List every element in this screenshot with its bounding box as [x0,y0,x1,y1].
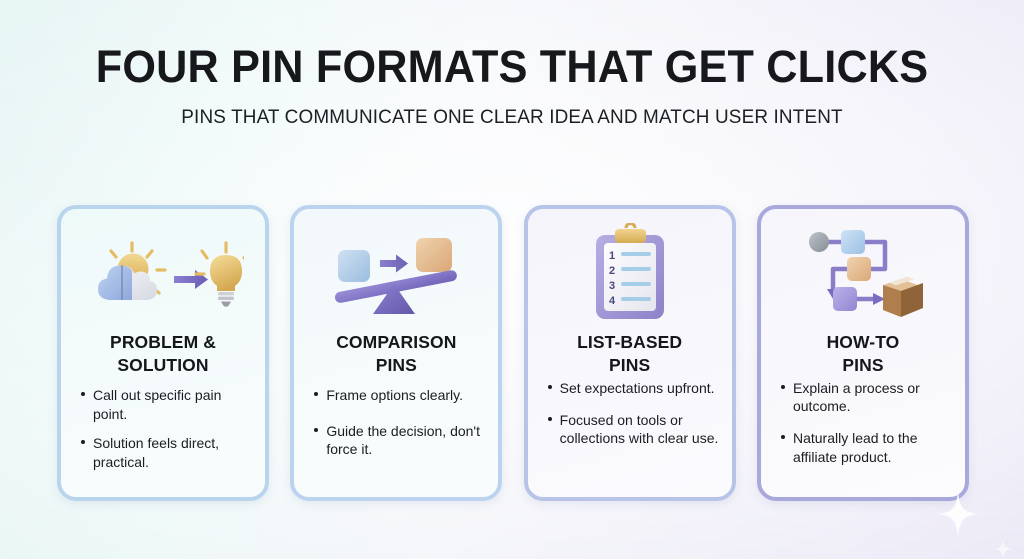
card-how-to-pins[interactable]: HOW-TO PINS Explain a process or outcome… [757,205,969,501]
card-title-line-1: COMPARISON [336,332,456,352]
clipboard-number: 4 [609,295,616,307]
list-item: Explain a process or outcome. [779,379,953,416]
list-item: Naturally lead to the affiliate product. [779,429,953,466]
page-title: FOUR PIN FORMATS THAT GET CLICKS [20,44,1003,90]
card-title: HOW-TO PINS [827,331,900,377]
flowchart-package-icon [769,219,957,331]
card-title-line-1: LIST-BASED [577,332,682,352]
list-item: Frame options clearly. [312,386,486,404]
balance-scale-blocks-icon [302,219,490,331]
card-bullet-list: Set expectations upfront. Focused on too… [536,379,724,459]
four-point-star-sparkle-icon [938,491,978,537]
clipboard-number: 2 [609,265,615,277]
list-item: Set expectations upfront. [546,379,720,397]
card-title: PROBLEM & SOLUTION [110,331,216,377]
card-title-line-2: PINS [376,355,417,375]
header: FOUR PIN FORMATS THAT GET CLICKS PINS TH… [0,0,1024,129]
clipboard-number: 3 [609,280,615,292]
card-title: LIST-BASED PINS [577,331,682,377]
list-item: Call out specific pain point. [79,386,253,423]
card-title-line-1: HOW-TO [827,332,900,352]
card-bullet-list: Frame options clearly. Guide the decisio… [302,386,490,469]
card-bullet-list: Explain a process or outcome. Naturally … [769,379,957,478]
card-row: PROBLEM & SOLUTION Call out specific pai… [57,205,969,501]
page-subtitle: PINS THAT COMMUNICATE ONE CLEAR IDEA AND… [15,106,1008,129]
card-title-line-2: PINS [842,355,883,375]
infographic-canvas: FOUR PIN FORMATS THAT GET CLICKS PINS TH… [0,0,1024,559]
card-bullet-list: Call out specific pain point. Solution f… [69,386,257,482]
card-title-line-2: PINS [609,355,650,375]
clipboard-number: 1 [609,250,615,262]
list-item: Focused on tools or collections with cle… [546,411,720,448]
card-comparison-pins[interactable]: COMPARISON PINS Frame options clearly. G… [290,205,502,501]
clipboard-numbered-list-icon: 1 2 3 4 [536,219,724,331]
card-title-line-2: SOLUTION [117,355,208,375]
card-list-based-pins[interactable]: 1 2 3 4 LIST-BASED [524,205,736,501]
list-item: Solution feels direct, practical. [79,434,253,471]
card-title: COMPARISON PINS [336,331,456,377]
card-title-line-1: PROBLEM & [110,332,216,352]
card-problem-solution[interactable]: PROBLEM & SOLUTION Call out specific pai… [57,205,269,501]
four-point-star-sparkle-small-icon [994,539,1012,559]
list-item: Guide the decision, don't force it. [312,422,486,459]
cloud-sun-arrow-lightbulb-icon [69,219,257,331]
